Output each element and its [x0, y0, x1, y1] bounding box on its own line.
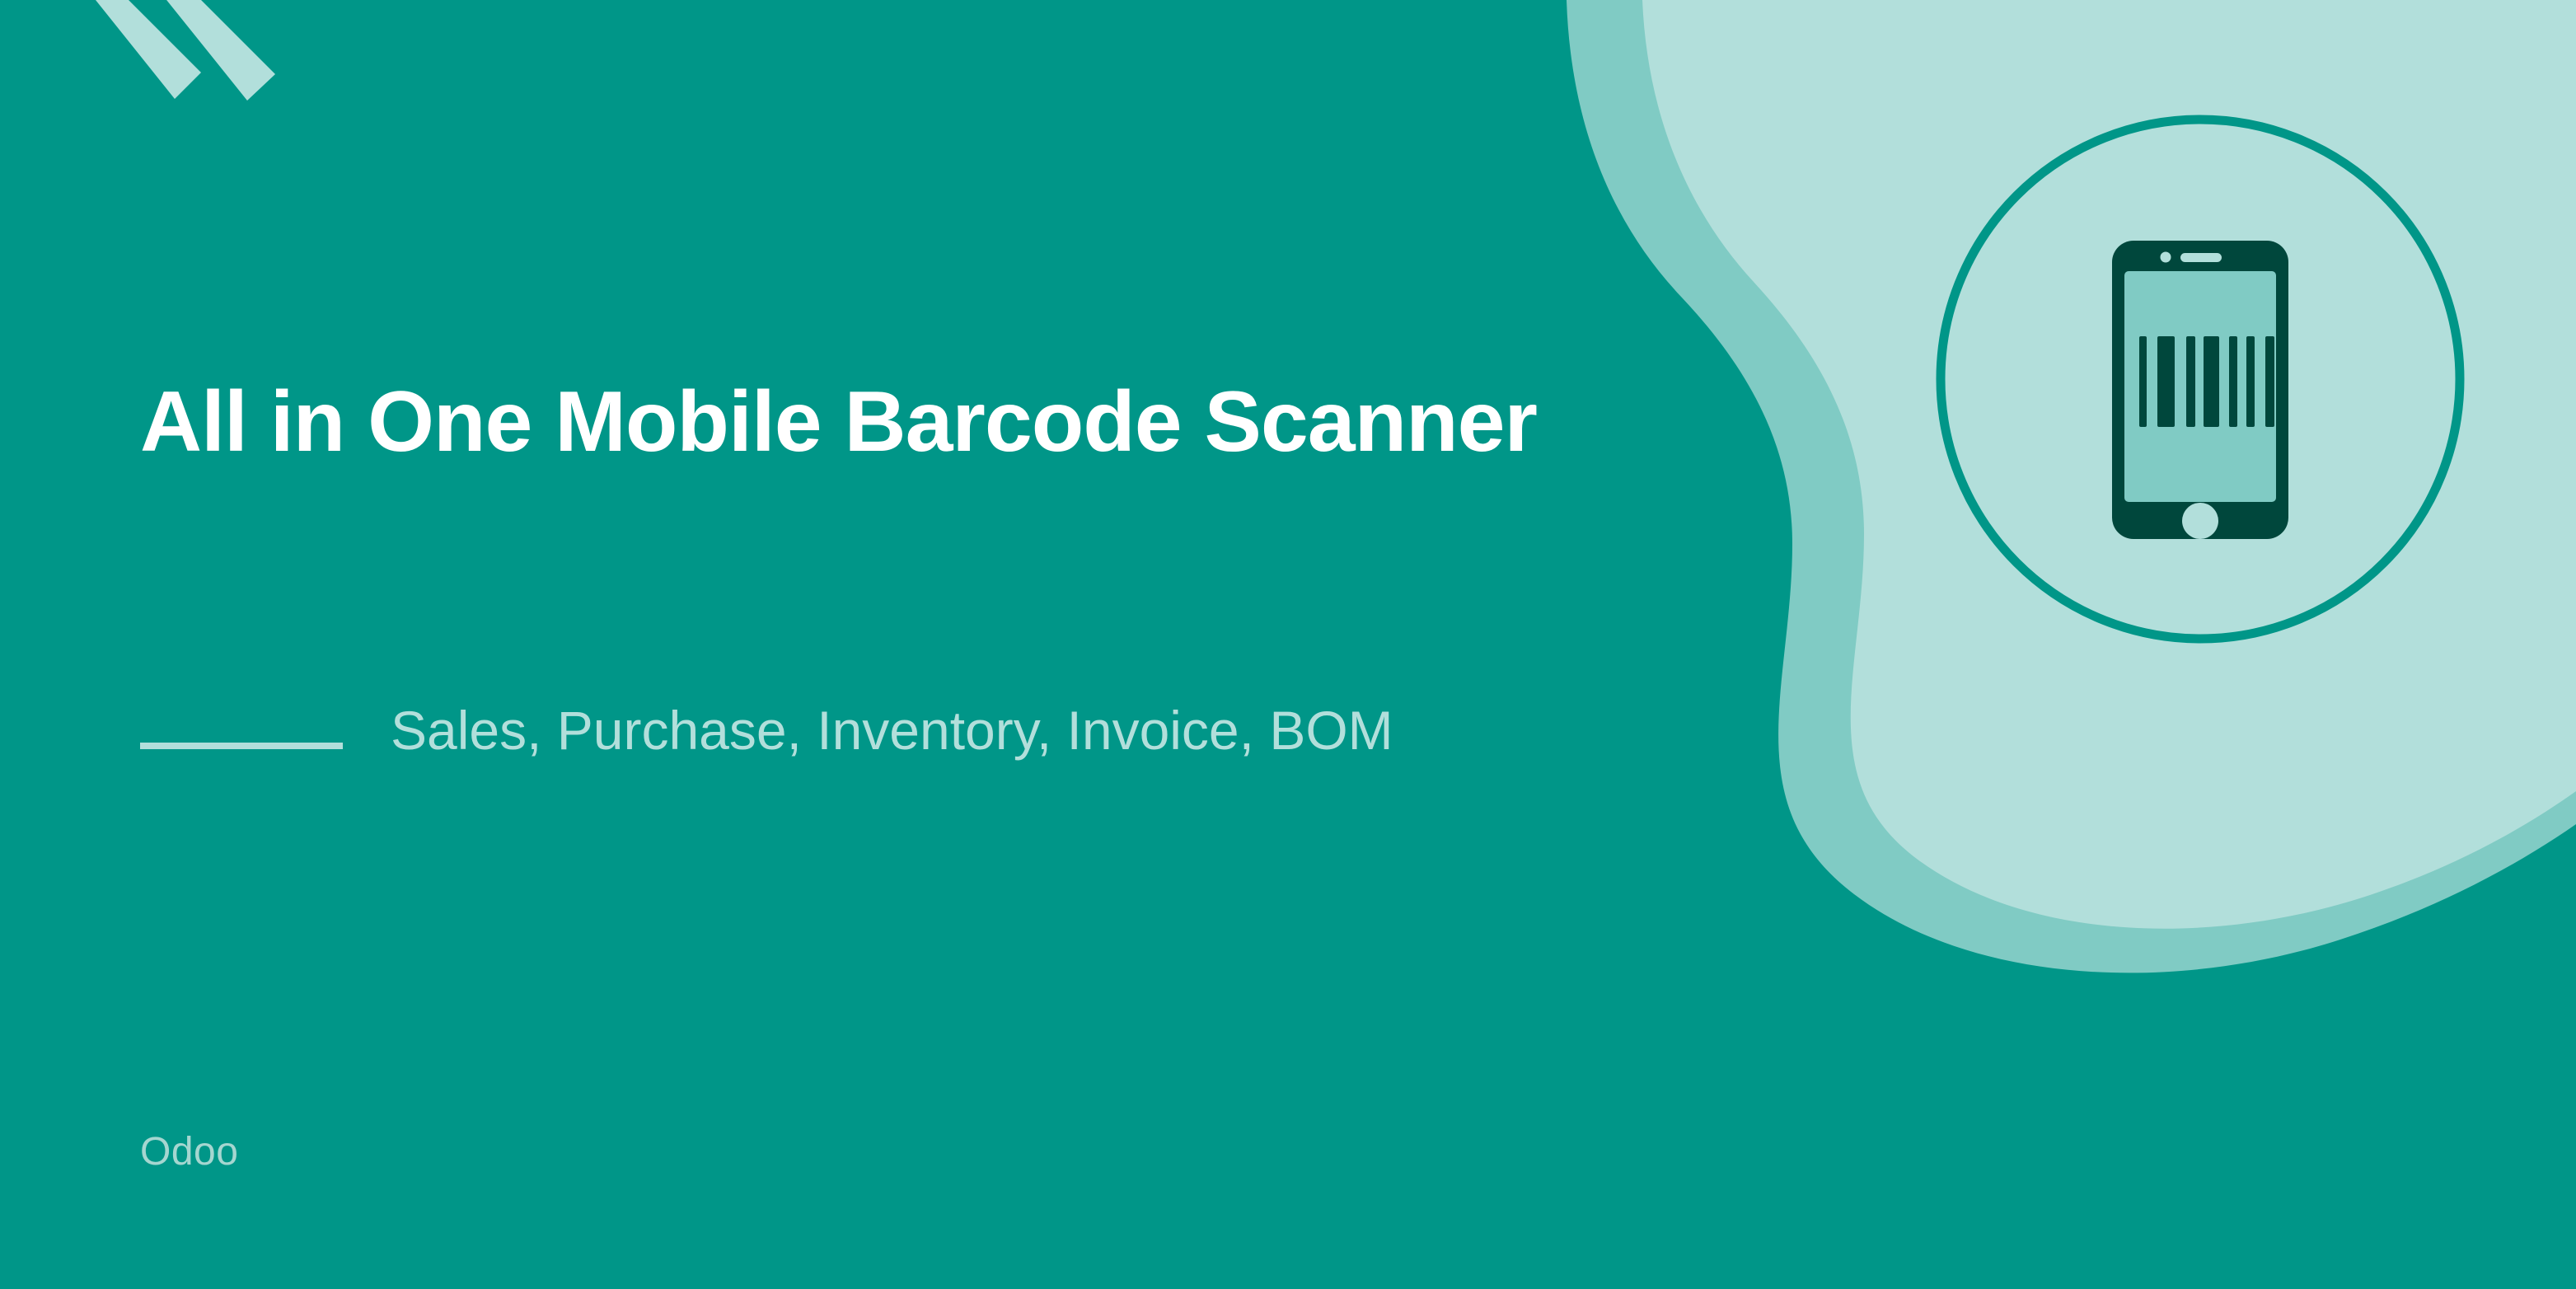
subtitle-dash-rule	[140, 743, 343, 749]
phone-badge	[1927, 105, 2474, 653]
slide-text-block: All in One Mobile Barcode Scanner Sales,…	[140, 0, 1788, 1289]
page-title: All in One Mobile Barcode Scanner	[140, 373, 1739, 472]
barcode-bar	[2265, 336, 2274, 427]
barcode-bar	[2157, 336, 2175, 427]
phone-camera-dot-icon	[2161, 252, 2171, 263]
presentation-slide: All in One Mobile Barcode Scanner Sales,…	[0, 0, 2576, 1289]
phone-speaker-slot-icon	[2180, 253, 2222, 262]
barcode-bar	[2139, 336, 2147, 427]
barcode-bar	[2246, 336, 2255, 427]
subtitle-row: Sales, Purchase, Inventory, Invoice, BOM	[140, 696, 1623, 765]
barcode-icon	[2139, 336, 2274, 427]
barcode-bar	[2204, 336, 2219, 427]
page-subtitle: Sales, Purchase, Inventory, Invoice, BOM	[391, 696, 1393, 765]
barcode-bar	[2229, 336, 2237, 427]
mobile-phone-icon	[2112, 241, 2288, 539]
phone-home-button-icon[interactable]	[2182, 503, 2218, 539]
brand-label: Odoo	[140, 1129, 238, 1174]
barcode-bar	[2186, 336, 2195, 427]
